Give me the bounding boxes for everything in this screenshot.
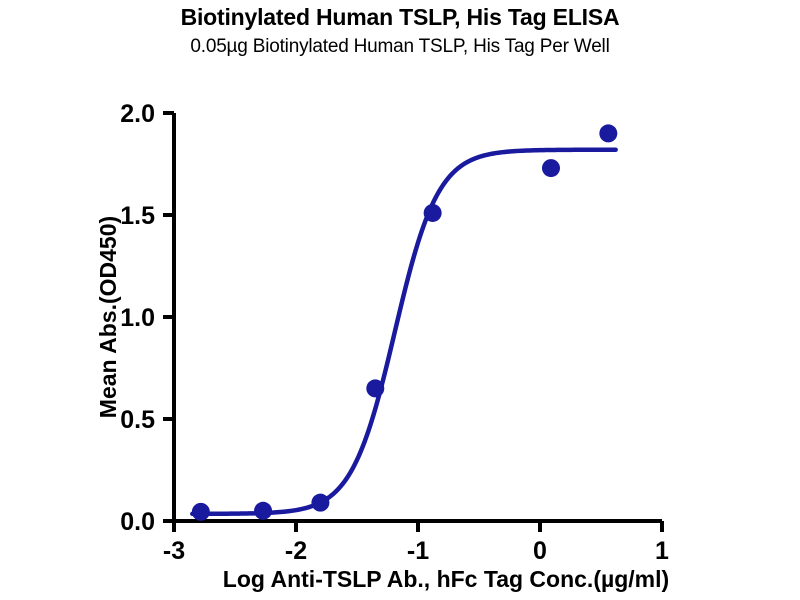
y-tick-label: 0.0 bbox=[120, 508, 155, 536]
y-tick-label: 0.5 bbox=[120, 406, 155, 434]
x-tick-label: 1 bbox=[655, 537, 669, 565]
y-axis-ticks: 0.00.51.01.52.0 bbox=[120, 100, 174, 536]
plot-area: 0.00.51.01.52.0 -3-2-101 Log Anti-TSLP A… bbox=[0, 0, 800, 600]
data-point bbox=[424, 204, 442, 222]
data-point bbox=[366, 379, 384, 397]
data-point bbox=[599, 124, 617, 142]
y-tick-label: 1.5 bbox=[120, 202, 155, 230]
axis-spines bbox=[174, 113, 662, 521]
x-tick-label: -3 bbox=[163, 537, 185, 565]
sigmoid-fit-curve bbox=[192, 150, 615, 514]
x-axis-title: Log Anti-TSLP Ab., hFc Tag Conc.(µg/ml) bbox=[223, 566, 669, 592]
y-tick-label: 2.0 bbox=[120, 100, 155, 128]
x-tick-label: -1 bbox=[407, 537, 429, 565]
x-tick-label: -2 bbox=[285, 537, 307, 565]
x-tick-label: 0 bbox=[533, 537, 547, 565]
data-point bbox=[311, 494, 329, 512]
elisa-chart-figure: Biotinylated Human TSLP, His Tag ELISA 0… bbox=[0, 0, 800, 600]
data-point-markers bbox=[192, 124, 617, 520]
data-point bbox=[192, 503, 210, 521]
data-point bbox=[254, 502, 272, 520]
y-tick-label: 1.0 bbox=[120, 304, 155, 332]
x-axis-ticks: -3-2-101 bbox=[163, 521, 669, 565]
y-axis-title: Mean Abs.(OD450) bbox=[95, 216, 121, 418]
data-point bbox=[542, 159, 560, 177]
